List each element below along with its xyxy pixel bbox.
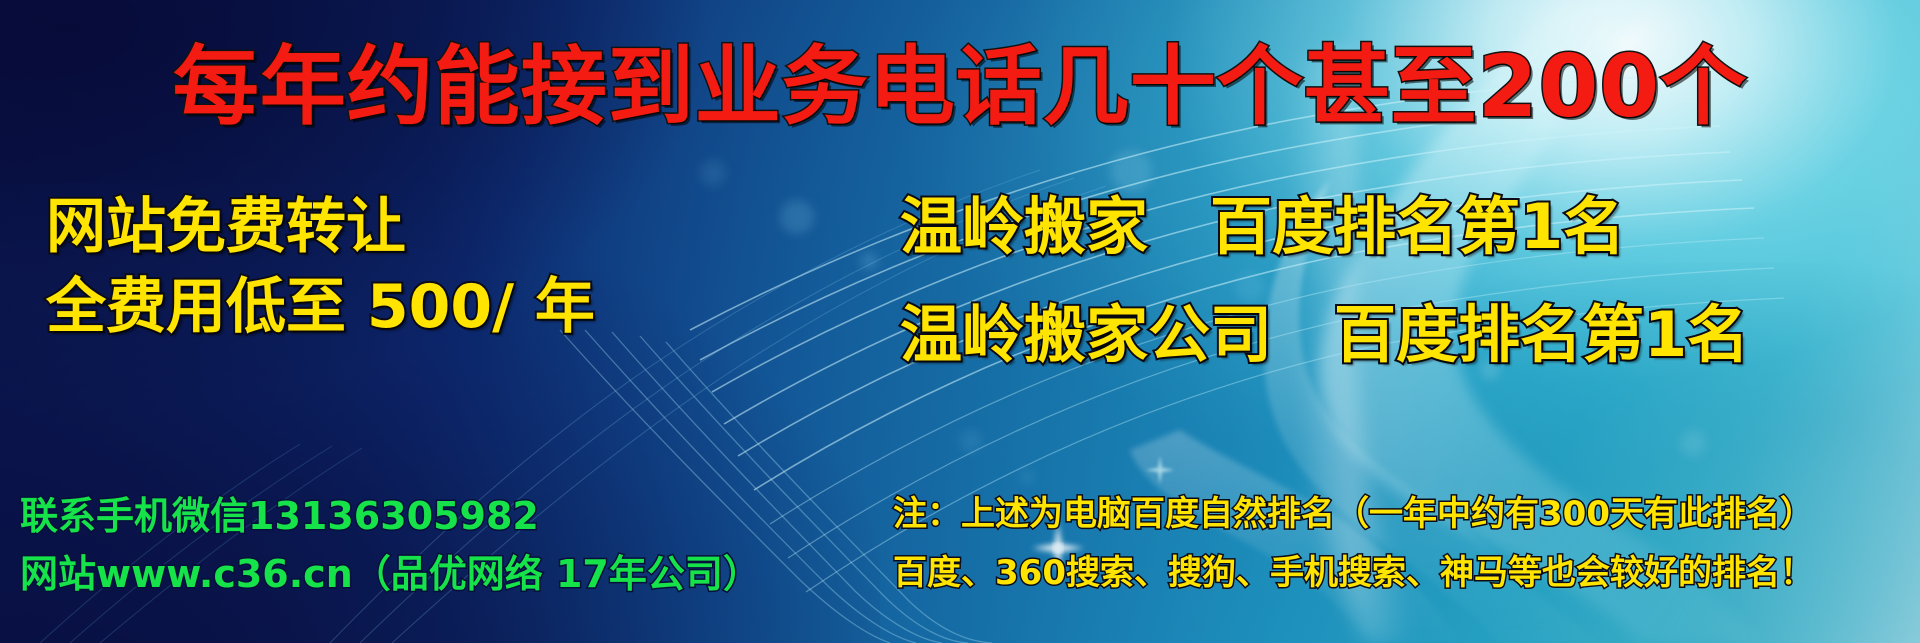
bokeh-dot — [700, 160, 726, 186]
headline-text: 每年约能接到业务电话几十个甚至200个 — [0, 16, 1920, 141]
contact-phone-wechat: 联系手机微信13136305982 — [20, 485, 539, 540]
promo-line-price: 全费用低至 500/ 年 — [46, 258, 595, 345]
promo-banner: 每年约能接到业务电话几十个甚至200个 网站免费转让 全费用低至 500/ 年 … — [0, 0, 1920, 643]
note-line-other-engines: 百度、360搜索、搜狗、手机搜索、神马等也会较好的排名！ — [893, 545, 1814, 594]
bokeh-dot — [860, 252, 878, 270]
note-line-baidu-natural-rank: 注：上述为电脑百度自然排名（一年中约有300天有此排名） — [893, 486, 1814, 535]
bokeh-dot — [780, 200, 814, 234]
bokeh-dot — [960, 430, 982, 452]
bokeh-dot — [1680, 430, 1706, 456]
bokeh-dot — [1020, 470, 1034, 484]
contact-website: 网站www.c36.cn（品优网络 17年公司） — [20, 543, 761, 598]
rank-line-moving: 温岭搬家 百度排名第1名 — [900, 176, 1625, 266]
promo-line-website-transfer: 网站免费转让 — [46, 178, 406, 265]
rank-line-moving-company: 温岭搬家公司 百度排名第1名 — [900, 284, 1749, 374]
